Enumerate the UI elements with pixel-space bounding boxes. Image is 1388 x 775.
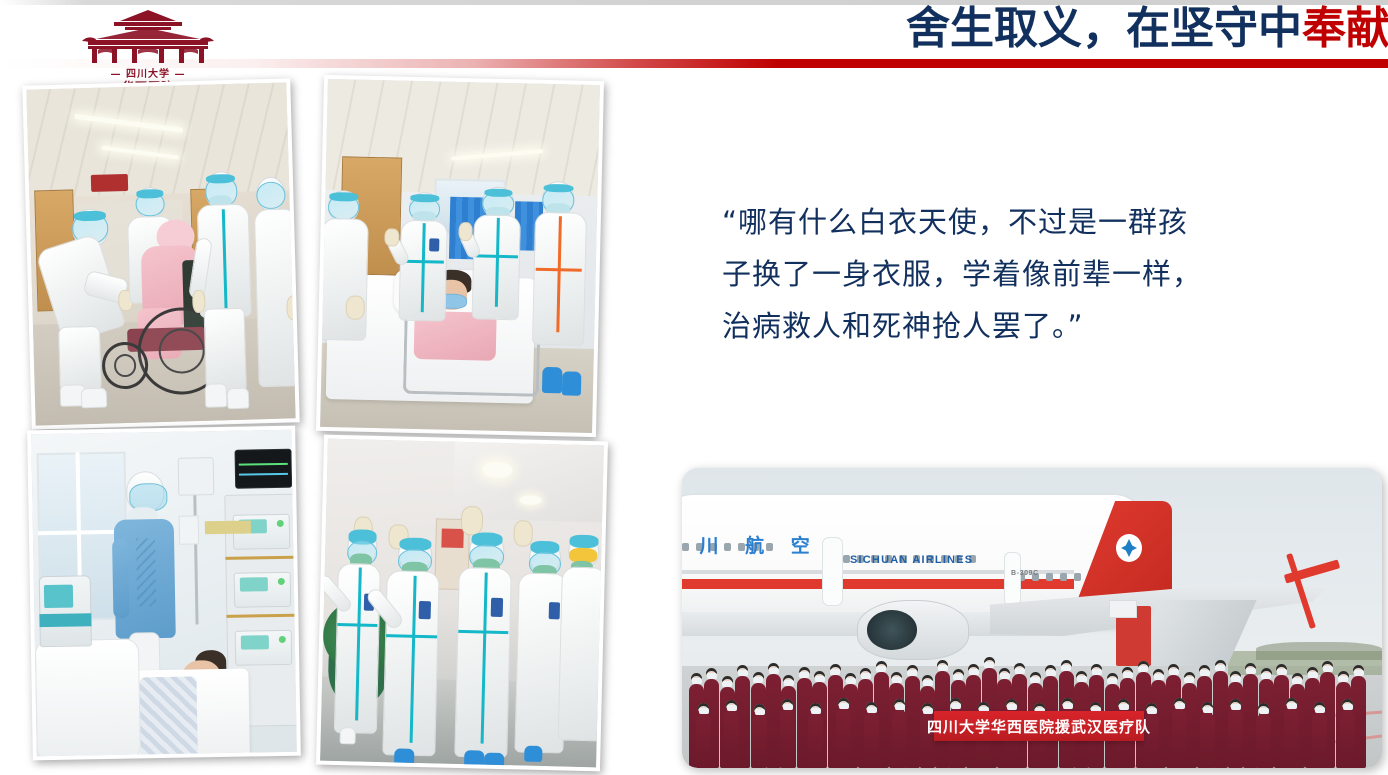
photo-icu-bedside-care xyxy=(27,426,301,761)
quote-line-3: 治病救人和死神抢人罢了。” xyxy=(722,300,1322,352)
quote-block: “哪有什么白衣天使，不过是一群孩 子换了一身衣服，学着像前辈一样， 治病救人和死… xyxy=(722,196,1322,352)
airline-name-en: SICHUAN AIRLINES xyxy=(850,554,973,566)
page-title-accent: 奉献 xyxy=(1302,3,1388,54)
airline-name-zh: 川 航 空 xyxy=(700,531,820,558)
header-divider-bar xyxy=(0,59,1388,68)
logo-line-university: — 四川大学 — xyxy=(68,70,228,81)
quote-line-1: “哪有什么白衣天使，不过是一群孩 xyxy=(722,196,1322,248)
page-title: 舍生取义，在坚守中奉献 xyxy=(906,2,1388,56)
team-banner: 四川大学华西医院援武汉医疗队 xyxy=(934,711,1144,741)
photo-medical-team-airplane: 川 航 空 SICHUAN AIRLINES B-309C xyxy=(682,468,1382,768)
photo-bedside-thumbs-up xyxy=(316,75,604,437)
quote-line-2: 子换了一身衣服，学着像前辈一样， xyxy=(722,248,1322,300)
medical-team-crowd xyxy=(682,633,1382,768)
team-banner-text: 四川大学华西医院援武汉医疗队 xyxy=(927,716,1151,737)
photo-wheelchair-corridor xyxy=(22,78,300,429)
aircraft-registration: B-309C xyxy=(1011,570,1039,577)
sichuan-university-west-china-hospital-logo: — 四川大学 — 华西医院 xyxy=(68,8,228,92)
page-title-main: 舍生取义，在坚守中 xyxy=(906,3,1302,54)
photo-team-raised-fists xyxy=(316,435,608,772)
